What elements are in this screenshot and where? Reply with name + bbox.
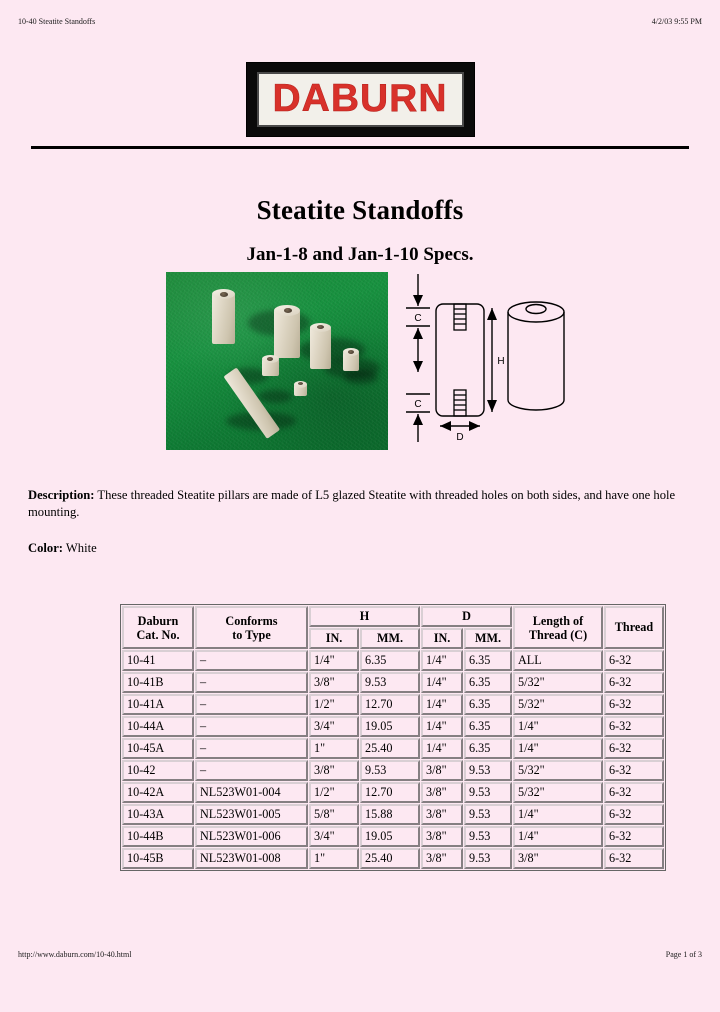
cell-h-mm: 12.70 xyxy=(360,782,420,803)
cell-d-in: 1/4" xyxy=(421,694,463,715)
cell-h-mm: 6.35 xyxy=(360,650,420,671)
table-row: 10-41B–3/8"9.531/4"6.355/32"6-32 xyxy=(122,672,664,693)
cell-thread: 6-32 xyxy=(604,650,664,671)
header-conforms: Conforms to Type xyxy=(195,606,308,649)
cell-h-mm: 9.53 xyxy=(360,672,420,693)
cell-d-in: 1/4" xyxy=(421,650,463,671)
cell-h-mm: 25.40 xyxy=(360,848,420,869)
header-length-of-thread: Length of Thread (C) xyxy=(513,606,603,649)
cell-length: 1/4" xyxy=(513,738,603,759)
header-d-mm: MM. xyxy=(464,628,512,649)
standoff-part xyxy=(262,359,279,376)
standoff-part xyxy=(274,310,300,358)
standoff-hole xyxy=(220,292,228,297)
cell-cat-no: 10-45B xyxy=(122,848,194,869)
cell-d-in: 1/4" xyxy=(421,672,463,693)
header-h-mm: MM. xyxy=(360,628,420,649)
standoff-hole xyxy=(284,308,292,313)
cell-length: 5/32" xyxy=(513,694,603,715)
standoff-hole xyxy=(348,350,354,354)
cell-conforms: – xyxy=(195,694,308,715)
color-label: Color: xyxy=(28,541,63,555)
footer-source-url[interactable]: http://www.daburn.com/10-40.html xyxy=(18,950,131,959)
cell-conforms: – xyxy=(195,672,308,693)
cell-thread: 6-32 xyxy=(604,672,664,693)
cell-thread: 6-32 xyxy=(604,848,664,869)
spec-table-container: Daburn Cat. No. Conforms to Type H D Len… xyxy=(120,604,666,871)
cell-cat-no: 10-43A xyxy=(122,804,194,825)
cylinder-bottom-arc xyxy=(508,400,564,410)
photo-shadow xyxy=(258,390,292,403)
label-c-top: C xyxy=(414,313,421,324)
header-conforms-line2: to Type xyxy=(232,628,270,642)
page-footer: http://www.daburn.com/10-40.html Page 1 … xyxy=(0,950,720,964)
standoff-part xyxy=(294,384,307,396)
table-header-row-1: Daburn Cat. No. Conforms to Type H D Len… xyxy=(122,606,664,627)
label-d: D xyxy=(456,432,463,443)
color-value: White xyxy=(63,541,97,555)
cell-d-in: 3/8" xyxy=(421,848,463,869)
standoff-hole xyxy=(317,325,324,329)
cell-h-in: 1" xyxy=(309,848,359,869)
cell-d-mm: 9.53 xyxy=(464,760,512,781)
cell-conforms: – xyxy=(195,760,308,781)
cell-thread: 6-32 xyxy=(604,738,664,759)
standoff-part xyxy=(310,327,331,369)
table-row: 10-44BNL523W01-0063/4"19.053/8"9.531/4"6… xyxy=(122,826,664,847)
cell-cat-no: 10-41 xyxy=(122,650,194,671)
header-cat-no-line2: Cat. No. xyxy=(137,628,180,642)
logo-frame: DABURN xyxy=(246,62,475,137)
cell-cat-no: 10-41A xyxy=(122,694,194,715)
cell-d-mm: 6.35 xyxy=(464,738,512,759)
cell-d-in: 3/8" xyxy=(421,826,463,847)
header-d-in: IN. xyxy=(421,628,463,649)
logo-plate: DABURN xyxy=(257,72,464,127)
description-paragraph: Description: These threaded Steatite pil… xyxy=(28,487,693,521)
cell-cat-no: 10-44A xyxy=(122,716,194,737)
cell-conforms: NL523W01-005 xyxy=(195,804,308,825)
header-group-h: H xyxy=(309,606,420,627)
cell-h-in: 1" xyxy=(309,738,359,759)
standoff-part xyxy=(212,294,235,344)
cell-h-in: 1/4" xyxy=(309,650,359,671)
cell-length: 1/4" xyxy=(513,716,603,737)
cell-h-in: 3/8" xyxy=(309,672,359,693)
cell-conforms: NL523W01-004 xyxy=(195,782,308,803)
cell-d-in: 3/8" xyxy=(421,782,463,803)
table-row: 10-42–3/8"9.533/8"9.535/32"6-32 xyxy=(122,760,664,781)
cell-length: 5/32" xyxy=(513,672,603,693)
cell-length: 1/4" xyxy=(513,826,603,847)
cell-d-mm: 9.53 xyxy=(464,804,512,825)
cell-conforms: NL523W01-006 xyxy=(195,826,308,847)
specification-table: Daburn Cat. No. Conforms to Type H D Len… xyxy=(120,604,666,871)
cell-h-in: 3/8" xyxy=(309,760,359,781)
dimension-diagram-svg: C C H D xyxy=(400,272,580,444)
cell-h-in: 3/4" xyxy=(309,716,359,737)
header-cat-no: Daburn Cat. No. xyxy=(122,606,194,649)
cell-thread: 6-32 xyxy=(604,760,664,781)
table-row: 10-41A–1/2"12.701/4"6.355/32"6-32 xyxy=(122,694,664,715)
cell-h-mm: 19.05 xyxy=(360,716,420,737)
brand-logo: DABURN xyxy=(0,62,720,137)
standoff-hole xyxy=(267,357,273,361)
table-body: 10-41–1/4"6.351/4"6.35ALL6-3210-41B–3/8"… xyxy=(122,650,664,869)
cell-d-mm: 6.35 xyxy=(464,694,512,715)
table-row: 10-42ANL523W01-0041/2"12.703/8"9.535/32"… xyxy=(122,782,664,803)
cell-length: ALL xyxy=(513,650,603,671)
cell-h-mm: 12.70 xyxy=(360,694,420,715)
footer-page-number: Page 1 of 3 xyxy=(666,950,702,959)
header-h-in: IN. xyxy=(309,628,359,649)
cell-d-mm: 6.35 xyxy=(464,650,512,671)
cell-thread: 6-32 xyxy=(604,804,664,825)
product-photo xyxy=(166,272,388,450)
cell-length: 3/8" xyxy=(513,848,603,869)
cell-d-in: 1/4" xyxy=(421,738,463,759)
cell-h-in: 1/2" xyxy=(309,694,359,715)
description-label: Description: xyxy=(28,488,94,502)
cell-d-mm: 9.53 xyxy=(464,848,512,869)
cell-cat-no: 10-42A xyxy=(122,782,194,803)
page-header: 10-40 Steatite Standoffs 4/2/03 9:55 PM xyxy=(0,17,720,31)
cell-conforms: NL523W01-008 xyxy=(195,848,308,869)
standoff-part xyxy=(343,352,359,371)
thread-hatch-bottom xyxy=(454,390,466,416)
table-row: 10-44A–3/4"19.051/4"6.351/4"6-32 xyxy=(122,716,664,737)
cell-cat-no: 10-42 xyxy=(122,760,194,781)
description-text: These threaded Steatite pillars are made… xyxy=(28,488,675,519)
cell-d-mm: 6.35 xyxy=(464,672,512,693)
cell-d-in: 3/8" xyxy=(421,804,463,825)
header-document-title: 10-40 Steatite Standoffs xyxy=(18,17,95,26)
label-c-bottom: C xyxy=(414,399,421,410)
cell-length: 5/32" xyxy=(513,782,603,803)
cell-d-in: 1/4" xyxy=(421,716,463,737)
header-cat-no-line1: Daburn xyxy=(138,614,179,628)
cell-thread: 6-32 xyxy=(604,716,664,737)
cell-h-in: 5/8" xyxy=(309,804,359,825)
header-length-line2: Thread (C) xyxy=(529,628,587,642)
photo-shadow xyxy=(344,370,378,384)
table-row: 10-45BNL523W01-0081"25.403/8"9.533/8"6-3… xyxy=(122,848,664,869)
cell-length: 1/4" xyxy=(513,804,603,825)
cell-cat-no: 10-41B xyxy=(122,672,194,693)
header-divider xyxy=(31,146,689,149)
standoff-hole xyxy=(298,382,303,385)
cell-length: 5/32" xyxy=(513,760,603,781)
table-row: 10-41–1/4"6.351/4"6.35ALL6-32 xyxy=(122,650,664,671)
thread-hatch-top xyxy=(454,304,466,330)
cell-d-mm: 9.53 xyxy=(464,826,512,847)
header-length-line1: Length of xyxy=(533,614,583,628)
cell-h-in: 1/2" xyxy=(309,782,359,803)
cell-h-mm: 15.88 xyxy=(360,804,420,825)
cell-conforms: – xyxy=(195,716,308,737)
cell-conforms: – xyxy=(195,650,308,671)
cell-h-mm: 25.40 xyxy=(360,738,420,759)
cell-d-mm: 9.53 xyxy=(464,782,512,803)
header-conforms-line1: Conforms xyxy=(225,614,277,628)
cell-h-mm: 19.05 xyxy=(360,826,420,847)
header-group-d: D xyxy=(421,606,512,627)
cell-h-mm: 9.53 xyxy=(360,760,420,781)
figure-row: C C H D xyxy=(0,272,720,452)
cell-h-in: 3/4" xyxy=(309,826,359,847)
cell-thread: 6-32 xyxy=(604,694,664,715)
cell-cat-no: 10-44B xyxy=(122,826,194,847)
color-paragraph: Color: White xyxy=(28,541,97,556)
header-thread: Thread xyxy=(604,606,664,649)
cell-conforms: – xyxy=(195,738,308,759)
page-title: Steatite Standoffs xyxy=(0,195,720,226)
header-print-timestamp: 4/2/03 9:55 PM xyxy=(652,17,702,26)
table-row: 10-45A–1"25.401/4"6.351/4"6-32 xyxy=(122,738,664,759)
table-head: Daburn Cat. No. Conforms to Type H D Len… xyxy=(122,606,664,649)
dimension-diagram: C C H D xyxy=(400,272,580,444)
cylinder-bore-ellipse xyxy=(526,305,546,314)
table-row: 10-43ANL523W01-0055/8"15.883/8"9.531/4"6… xyxy=(122,804,664,825)
cell-d-in: 3/8" xyxy=(421,760,463,781)
cell-cat-no: 10-45A xyxy=(122,738,194,759)
logo-wordmark: DABURN xyxy=(273,77,448,120)
cell-thread: 6-32 xyxy=(604,826,664,847)
page-subtitle: Jan-1-8 and Jan-1-10 Specs. xyxy=(0,244,720,266)
cell-thread: 6-32 xyxy=(604,782,664,803)
cell-d-mm: 6.35 xyxy=(464,716,512,737)
label-h: H xyxy=(497,356,504,367)
section-body xyxy=(436,304,484,416)
